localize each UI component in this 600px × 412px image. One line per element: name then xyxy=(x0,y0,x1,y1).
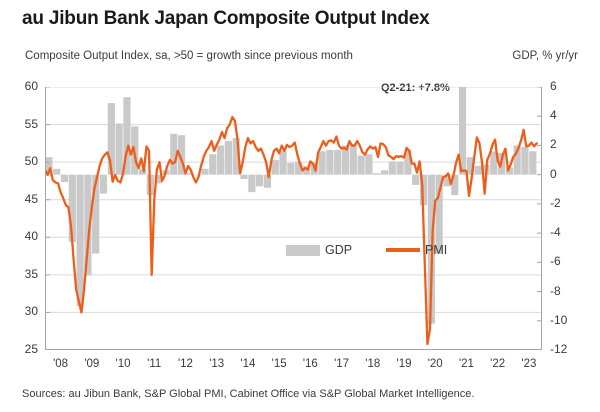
y-axis-right-tick: -4 xyxy=(550,225,580,239)
gdp-bar xyxy=(53,169,60,175)
pmi-line-icon xyxy=(386,248,420,252)
y-axis-right-tick: 4 xyxy=(550,108,580,122)
gdp-bar xyxy=(217,145,224,174)
y-axis-right-tick: 6 xyxy=(550,79,580,93)
gdp-bar xyxy=(475,166,482,175)
legend-item-gdp[interactable]: GDP xyxy=(286,244,352,257)
y-axis-right-tick: -8 xyxy=(550,284,580,298)
gdp-bar xyxy=(100,175,107,194)
gdp-bar xyxy=(365,154,372,174)
gdp-bar xyxy=(272,160,279,175)
gdp-bar xyxy=(397,162,404,175)
right-axis-subtitle: GDP, % yr/yr xyxy=(512,50,578,62)
gdp-bar xyxy=(521,147,528,175)
gdp-bar xyxy=(350,144,357,175)
y-axis-right-tick: 2 xyxy=(550,137,580,151)
y-axis-right-tick: 0 xyxy=(550,167,580,181)
x-axis-tick: '22 xyxy=(481,358,515,370)
y-axis-right-tick: -12 xyxy=(550,342,580,356)
x-axis-tick: '14 xyxy=(231,358,265,370)
gdp-bar xyxy=(225,141,232,175)
gdp-bar xyxy=(357,156,364,175)
plot-area xyxy=(45,87,542,350)
legend-label-gdp: GDP xyxy=(325,244,352,257)
gdp-bar xyxy=(240,175,247,179)
y-axis-left-tick: 30 xyxy=(10,304,38,318)
gdp-swatch-icon xyxy=(286,245,320,256)
gdp-bar-series xyxy=(45,87,536,324)
legend-label-pmi: PMI xyxy=(425,244,447,257)
x-axis-tick: '23 xyxy=(512,358,546,370)
gdp-bar xyxy=(209,154,216,174)
y-axis-left-tick: 40 xyxy=(10,229,38,243)
y-axis-right-tick: -10 xyxy=(550,313,580,327)
x-axis-tick: '16 xyxy=(293,358,327,370)
gdp-bar xyxy=(529,151,536,174)
y-axis-left-tick: 35 xyxy=(10,267,38,281)
y-axis-right-tick: -2 xyxy=(550,196,580,210)
chart-card: au Jibun Bank Japan Composite Output Ind… xyxy=(0,0,600,412)
gdp-bar xyxy=(318,151,325,174)
gdp-bar xyxy=(116,124,123,175)
gdp-bar xyxy=(77,175,84,307)
x-axis-tick: '11 xyxy=(137,358,171,370)
gdp-bar xyxy=(287,163,294,175)
x-axis-tick: '13 xyxy=(200,358,234,370)
y-axis-left-tick: 55 xyxy=(10,117,38,131)
gdp-bar xyxy=(279,151,286,174)
source-note: Sources: au Jibun Bank, S&P Global PMI, … xyxy=(22,388,474,400)
y-axis-left-tick: 25 xyxy=(10,342,38,356)
x-axis-tick: '09 xyxy=(75,358,109,370)
legend-item-pmi[interactable]: PMI xyxy=(386,244,447,257)
x-axis-tick: '19 xyxy=(387,358,421,370)
y-axis-left-tick: 60 xyxy=(10,79,38,93)
x-axis-tick: '08 xyxy=(44,358,78,370)
x-axis-tick: '20 xyxy=(418,358,452,370)
gdp-bar xyxy=(373,173,380,174)
gdp-bar xyxy=(412,175,419,185)
x-axis-tick: '12 xyxy=(168,358,202,370)
y-axis-right-tick: -6 xyxy=(550,254,580,268)
gdp-bar xyxy=(334,150,341,175)
gdp-bar xyxy=(389,162,396,175)
left-axis-subtitle: Composite Output Index, sa, >50 = growth… xyxy=(25,50,353,62)
gdp-bar xyxy=(256,175,263,187)
gdp-bar xyxy=(61,175,68,182)
gdp-bar xyxy=(248,175,255,193)
y-axis-left-tick: 50 xyxy=(10,154,38,168)
x-axis-tick: '18 xyxy=(356,358,390,370)
page-title: au Jibun Bank Japan Composite Output Ind… xyxy=(22,8,430,30)
gdp-bar xyxy=(326,150,333,175)
x-axis-tick: '15 xyxy=(262,358,296,370)
chart-canvas xyxy=(45,87,542,350)
x-axis-tick: '17 xyxy=(325,358,359,370)
gdp-bar xyxy=(381,170,388,174)
x-axis-tick: '10 xyxy=(106,358,140,370)
x-axis-tick: '21 xyxy=(449,358,483,370)
y-axis-left-tick: 45 xyxy=(10,192,38,206)
gdp-bar xyxy=(201,169,208,175)
